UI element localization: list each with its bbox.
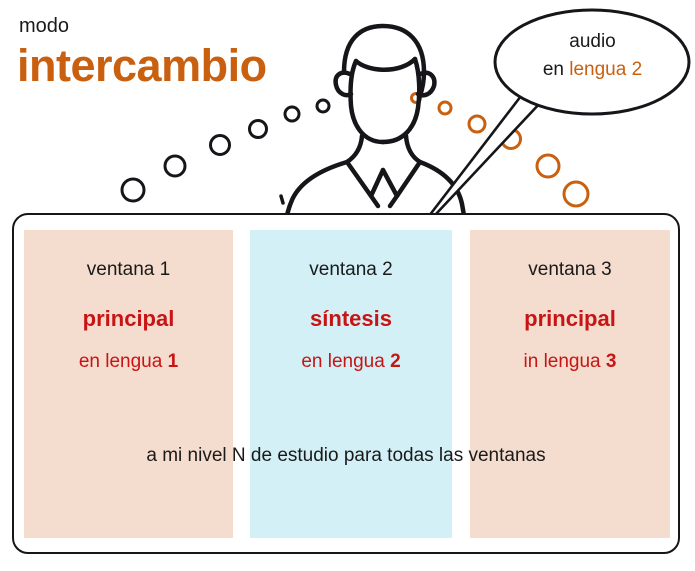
- window-column-1-role: principal: [24, 308, 233, 330]
- window-column-2-language-prefix: en lengua: [301, 351, 390, 372]
- window-column-2-language-number: 2: [390, 351, 401, 372]
- window-column-2[interactable]: ventana 2 síntesis en lengua 2: [250, 230, 452, 538]
- window-column-2-role: síntesis: [250, 308, 452, 330]
- black-bubble-trail: [122, 100, 329, 201]
- black-bubble-icon: [250, 121, 267, 138]
- orange-bubble-icon: [537, 155, 559, 177]
- orange-bubble-icon: [469, 116, 485, 132]
- window-column-3-language: in lengua 3: [470, 352, 670, 371]
- speech-bubble-line-2-prefix: en: [543, 59, 569, 80]
- window-column-1-language-prefix: en lengua: [79, 351, 168, 372]
- orange-bubble-icon: [564, 182, 588, 206]
- black-bubble-icon: [122, 179, 144, 201]
- black-bubble-icon: [165, 156, 185, 176]
- window-column-2-title: ventana 2: [250, 260, 452, 279]
- footer-note: a mi nivel N de estudio para todas las v…: [12, 446, 680, 465]
- window-column-3-language-prefix: in lengua: [524, 351, 606, 372]
- black-bubble-icon: [285, 107, 299, 121]
- orange-bubble-icon: [412, 94, 421, 103]
- speech-bubble-line-2: en lengua 2: [505, 56, 680, 84]
- modo-kicker-label: modo: [19, 16, 69, 36]
- window-column-1[interactable]: ventana 1 principal en lengua 1: [24, 230, 233, 538]
- window-column-3-title: ventana 3: [470, 260, 670, 279]
- orange-bubble-icon: [439, 102, 451, 114]
- window-column-1-title: ventana 1: [24, 260, 233, 279]
- black-bubble-icon: [211, 136, 230, 155]
- window-column-1-language-number: 1: [168, 351, 179, 372]
- speech-bubble-line-1: audio: [505, 28, 680, 56]
- black-bubble-icon: [317, 100, 329, 112]
- window-column-3-role: principal: [470, 308, 670, 330]
- window-column-2-language: en lengua 2: [250, 352, 452, 371]
- speech-bubble-line-2-highlight: lengua 2: [569, 59, 642, 80]
- orange-bubble-trail: [412, 94, 589, 207]
- orange-bubble-icon: [502, 130, 521, 149]
- window-column-1-language: en lengua 1: [24, 352, 233, 371]
- speech-bubble-text: audio en lengua 2: [505, 28, 680, 83]
- page-title: intercambio: [17, 42, 267, 89]
- window-column-3[interactable]: ventana 3 principal in lengua 3: [470, 230, 670, 538]
- window-column-3-language-number: 3: [606, 351, 617, 372]
